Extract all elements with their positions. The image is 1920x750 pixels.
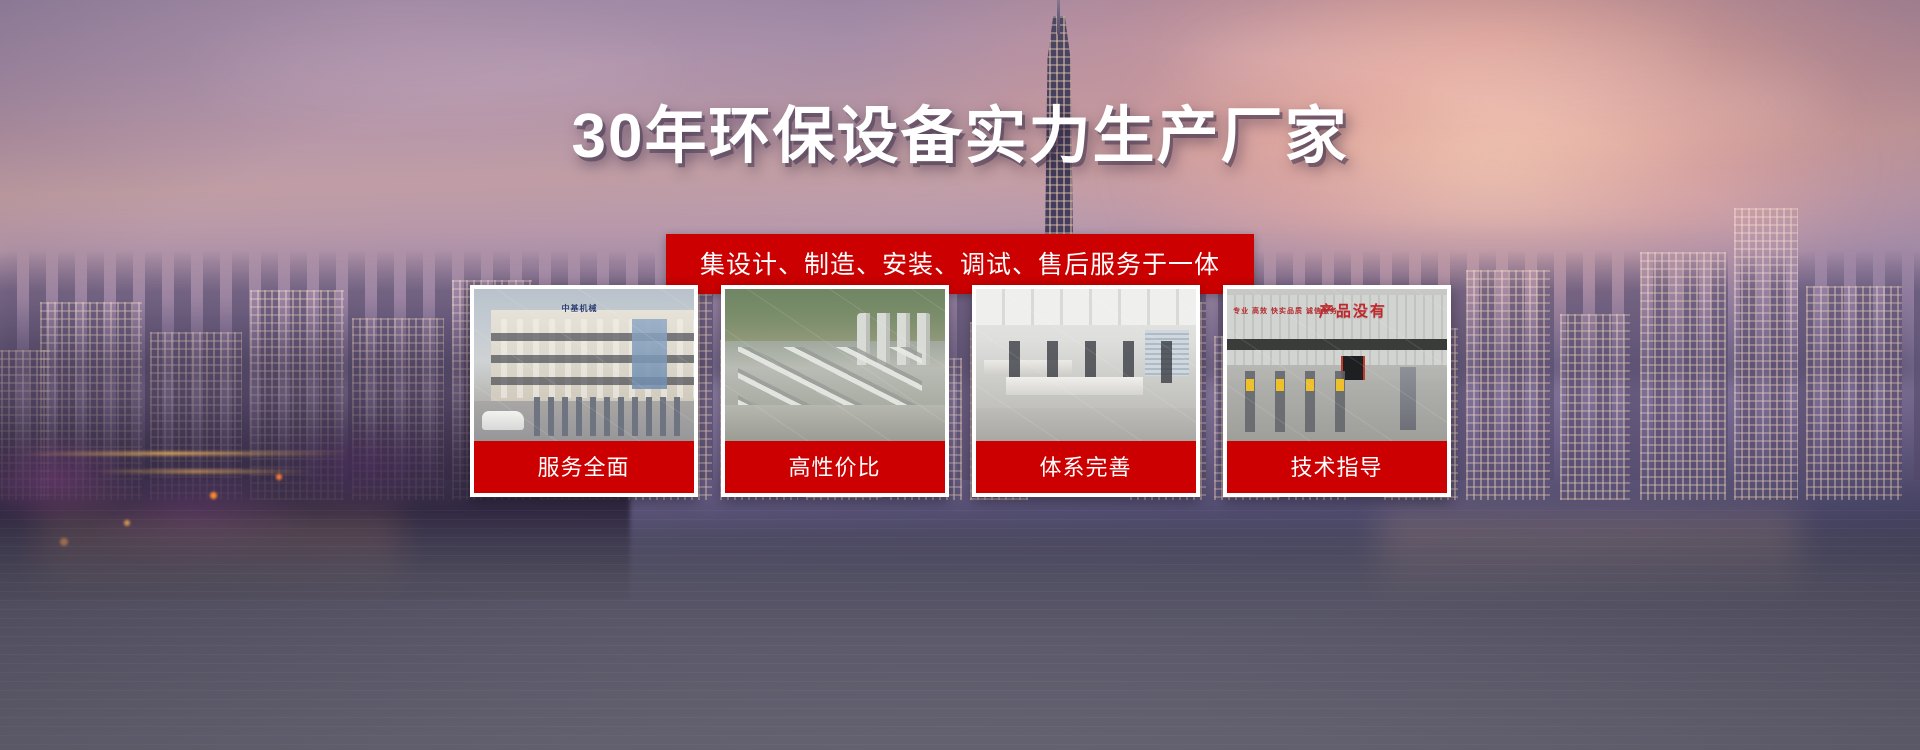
workshop-signage: 产品没有 bbox=[1319, 300, 1387, 321]
hero-banner: 30年环保设备实力生产厂家 集设计、制造、安装、调试、售后服务于一体 中基机械 bbox=[0, 0, 1920, 750]
building-signage: 中基机械 bbox=[562, 303, 598, 314]
hero-content: 30年环保设备实力生产厂家 集设计、制造、安装、调试、售后服务于一体 中基机械 bbox=[0, 0, 1920, 750]
card-label: 技术指导 bbox=[1227, 441, 1447, 493]
feature-card[interactable]: 体系完善 bbox=[972, 285, 1200, 497]
card-photo-workshop-yard: 专业 高效 快实品质 诚信服务 产品没有 bbox=[1227, 289, 1447, 441]
feature-card[interactable]: 中基机械 服务全面 bbox=[470, 285, 698, 497]
card-label: 高性价比 bbox=[725, 441, 945, 493]
page-title: 30年环保设备实力生产厂家 bbox=[0, 104, 1920, 169]
feature-card-list: 中基机械 服务全面 高性价比 bbox=[0, 285, 1920, 497]
card-label: 体系完善 bbox=[976, 441, 1196, 493]
card-photo-office-building: 中基机械 bbox=[474, 289, 694, 441]
card-label: 服务全面 bbox=[474, 441, 694, 493]
card-photo-factory-aerial bbox=[725, 289, 945, 441]
card-photo-office-interior bbox=[976, 289, 1196, 441]
feature-card[interactable]: 专业 高效 快实品质 诚信服务 产品没有 技术指导 bbox=[1223, 285, 1451, 497]
feature-card[interactable]: 高性价比 bbox=[721, 285, 949, 497]
